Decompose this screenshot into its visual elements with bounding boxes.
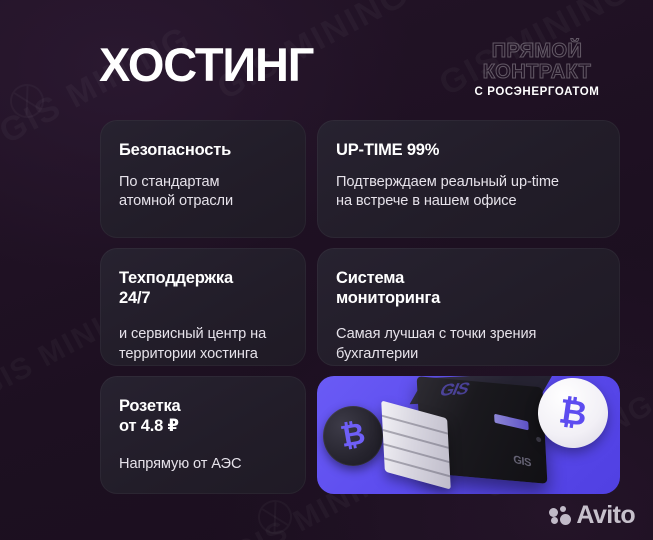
card-title: UP-TIME 99% [336,140,601,160]
badge-line-2: КОНТРАКТ [449,62,625,83]
card-title: Техподдержка 24/7 [119,268,287,308]
miner-product-image: ₿ GIS GIS ₿ [317,376,620,494]
feature-card-support: Техподдержка 24/7 и сервисный центр на т… [100,248,306,366]
avito-label: Avito [576,503,635,528]
bitcoin-symbol: ₿ [557,394,589,432]
miner-port-dot [536,436,541,442]
mining-rig-illustration: GIS GIS [383,382,551,490]
avito-watermark: Avito [549,503,635,528]
bitcoin-coin-dark-icon: ₿ [318,401,388,471]
bitcoin-symbol: ₿ [338,419,367,453]
card-body: Напрямую от АЭС [119,455,287,474]
feature-card-grid: Безопасность По стандартам атомной отрас… [100,120,620,505]
avito-logo-icon [549,506,571,526]
feature-card-uptime: UP-TIME 99% Подтверждаем реальный up-tim… [317,120,620,238]
badge-line-3: С РОСЭНЕРГОАТОМ [449,86,625,98]
badge-line-1: ПРЯМОЙ [449,41,625,62]
card-body: Подтверждаем реальный up-time на встрече… [336,173,601,212]
miner-led-strip [494,414,529,431]
miner-logo-small: GIS [513,453,531,469]
card-title: Система мониторинга [336,268,601,308]
card-body: Самая лучшая с точки зрения бухгалтерии [336,325,601,364]
card-body: По стандартам атомной отрасли [119,173,287,212]
page-title: ХОСТИНГ [99,41,313,88]
direct-contract-badge: ПРЯМОЙ КОНТРАКТ С РОСЭНЕРГОАТОМ [449,41,625,98]
promo-banner: GIS MINING GIS MINING GIS MINING GIS MIN… [0,0,653,540]
feature-card-security: Безопасность По стандартам атомной отрас… [100,120,306,238]
feature-card-monitoring: Система мониторинга Самая лучшая с точки… [317,248,620,366]
card-body: и сервисный центр на территории хостинга [119,325,287,364]
card-title: Безопасность [119,140,287,160]
banner-header: ХОСТИНГ ПРЯМОЙ КОНТРАКТ С РОСЭНЕРГОАТОМ [0,0,653,118]
feature-card-power-price: Розетка от 4.8 ₽ Напрямую от АЭС [100,376,306,494]
card-title: Розетка от 4.8 ₽ [119,396,287,436]
